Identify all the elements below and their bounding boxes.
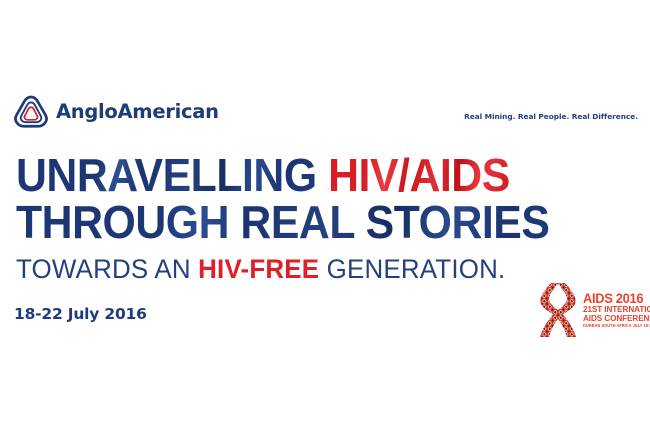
aids-2016-conference-logo: AIDS 2016 21ST INTERNATIONAL AIDS CONFER… xyxy=(536,281,642,339)
headline-line-1-red: HIV/AIDS xyxy=(328,149,510,201)
headline-line-2: THROUGH REAL STORIES xyxy=(16,199,583,246)
anglo-american-triangle-mark xyxy=(14,95,48,129)
event-date: 18-22 July 2016 xyxy=(14,305,147,323)
subheadline-highlight: HIV-FREE xyxy=(198,254,319,284)
conference-logo-text: AIDS 2016 21ST INTERNATIONAL AIDS CONFER… xyxy=(583,291,650,329)
poster-canvas: AngloAmerican Real Mining. Real People. … xyxy=(0,0,650,428)
headline-line-1-blue: UNRAVELLING xyxy=(16,149,328,201)
aids-awareness-ribbon-icon xyxy=(536,282,580,338)
headline-line-1: UNRAVELLING HIV/AIDS xyxy=(16,152,583,199)
anglo-american-wordmark: AngloAmerican xyxy=(56,102,219,122)
headline-block: UNRAVELLING HIV/AIDS THROUGH REAL STORIE… xyxy=(16,152,626,246)
subheadline-suffix: GENERATION. xyxy=(319,254,505,284)
anglo-american-logo: AngloAmerican xyxy=(14,95,219,129)
conference-subtitle-line-2: AIDS CONFERENCE xyxy=(583,314,650,323)
subheadline: TOWARDS AN HIV-FREE GENERATION. xyxy=(16,254,505,284)
conference-fine-print: DURBAN SOUTH AFRICA JULY 18-22 2016 xyxy=(583,323,650,329)
corporate-tagline: Real Mining. Real People. Real Differenc… xyxy=(464,112,638,121)
subheadline-prefix: TOWARDS AN xyxy=(16,254,198,284)
